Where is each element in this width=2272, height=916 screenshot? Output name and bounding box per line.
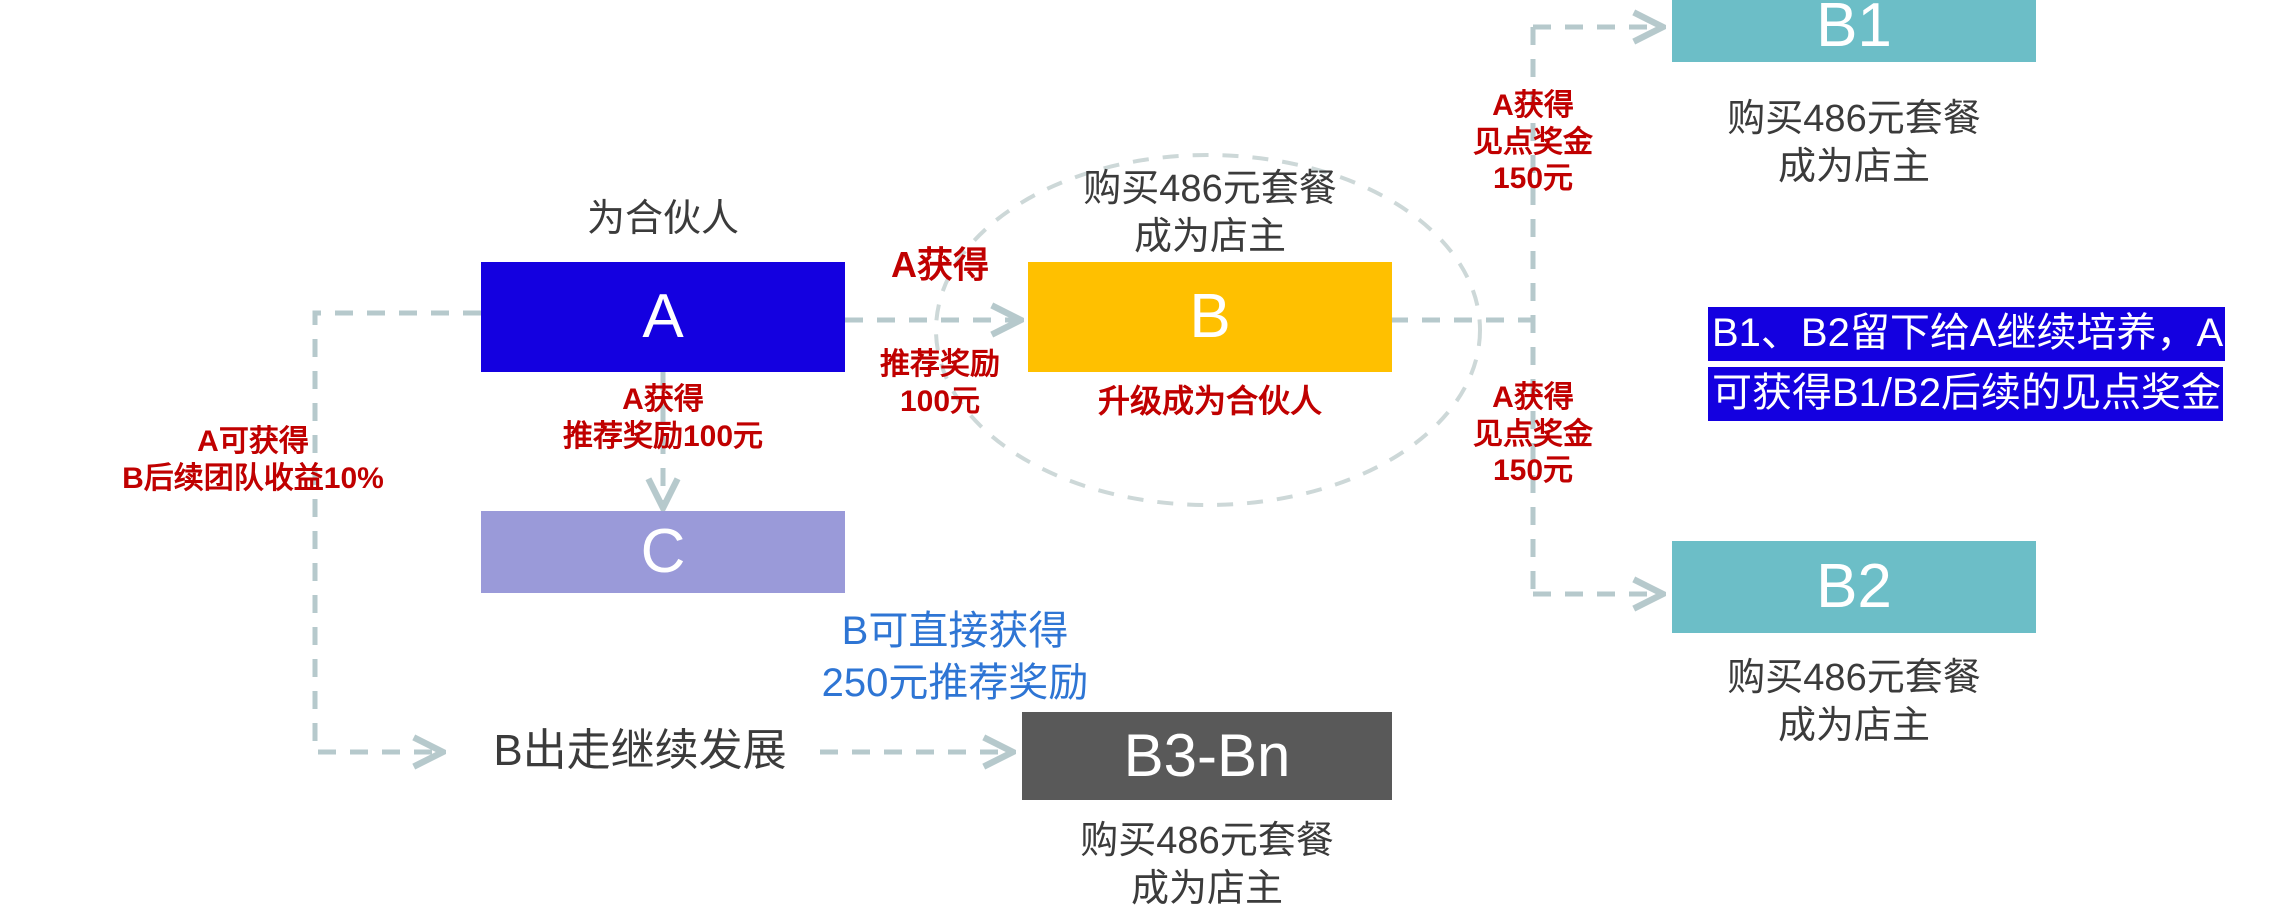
node-b3bn-caption: 购买486元套餐 成为店主	[1022, 818, 1392, 913]
node-a-label: A	[642, 286, 683, 348]
edge-label-a-to-b-amount: 推荐奖励 100元	[855, 347, 1025, 420]
node-b-label: B	[1189, 286, 1230, 348]
edge-label-a-to-c: A获得 推荐奖励100元	[528, 382, 798, 455]
edge-label-b-leaves: B出走继续发展	[460, 723, 820, 778]
node-b1-caption: 购买486元套餐 成为店主	[1672, 96, 2036, 191]
node-a[interactable]: A	[481, 262, 845, 372]
node-c[interactable]: C	[481, 511, 845, 593]
edge-a-left-loop	[315, 313, 481, 752]
diagram-canvas: 为合伙人 A C 购买486元套餐 成为店主 B 升级成为合伙人 B1 购买48…	[0, 0, 2272, 916]
highlight-note-line2: 可获得B1/B2后续的见点奖金	[1708, 367, 2223, 421]
edge-label-b-to-b2: A获得 见点奖金 150元	[1438, 380, 1628, 490]
node-b-bottom-note: 升级成为合伙人	[1028, 382, 1392, 421]
node-b3bn-label: B3-Bn	[1124, 726, 1291, 786]
node-a-top-note: 为合伙人	[481, 196, 845, 244]
node-b1-label: B1	[1816, 0, 1892, 57]
edge-label-a-to-b: A获得	[855, 243, 1025, 287]
node-b3bn[interactable]: B3-Bn	[1022, 712, 1392, 800]
highlight-note-line1: B1、B2留下给A继续培养，A	[1708, 307, 2225, 361]
node-b2[interactable]: B2	[1672, 541, 2036, 633]
node-b1[interactable]: B1	[1672, 0, 2036, 62]
node-b[interactable]: B	[1028, 262, 1392, 372]
node-c-label: C	[641, 521, 686, 583]
node-b-top-note: 购买486元套餐 成为店主	[1028, 166, 1392, 261]
highlight-note: B1、B2留下给A继续培养，A 可获得B1/B2后续的见点奖金	[1708, 307, 2225, 421]
edge-label-a-left-loop: A可获得 B后续团队收益10%	[118, 424, 388, 497]
edge-label-b-to-b1: A获得 见点奖金 150元	[1438, 88, 1628, 198]
edge-label-b-direct-reward: B可直接获得 250元推荐奖励	[740, 605, 1170, 709]
node-b2-label: B2	[1816, 556, 1892, 618]
node-b2-caption: 购买486元套餐 成为店主	[1672, 655, 2036, 750]
